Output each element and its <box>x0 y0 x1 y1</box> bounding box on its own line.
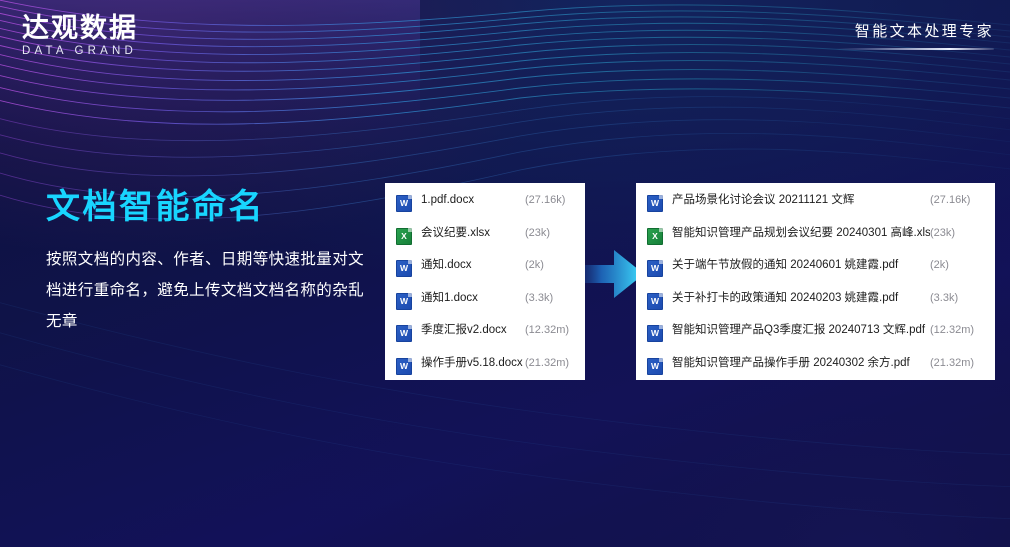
word-file-icon: W <box>647 358 663 375</box>
page-title: 文档智能命名 <box>46 188 376 227</box>
tagline-text: 智能文本处理专家 <box>836 20 994 41</box>
file-name: 智能知识管理产品规划会议纪要 20240301 高峰.xlsx <box>672 225 930 242</box>
file-size: (12.32m) <box>525 322 585 339</box>
file-size: (21.32m) <box>930 355 995 372</box>
word-file-icon: W <box>396 325 412 342</box>
file-size: (2k) <box>525 257 585 274</box>
slide-canvas: 达观数据 DATA GRAND 智能文本处理专家 文档智能命名 按照文档的内容、… <box>0 0 1010 547</box>
file-name: 1.pdf.docx <box>421 192 525 209</box>
file-row[interactable]: W智能知识管理产品Q3季度汇报 20240713 文辉.pdf(12.32m) <box>636 322 995 355</box>
file-name: 关于端午节放假的通知 20240601 姚建霞.pdf <box>672 257 930 274</box>
file-row[interactable]: X会议纪要.xlsx(23k) <box>385 225 585 258</box>
file-size: (27.16k) <box>930 192 995 209</box>
file-size: (12.32m) <box>930 322 995 339</box>
file-row[interactable]: W智能知识管理产品操作手册 20240302 余方.pdf(21.32m) <box>636 355 995 388</box>
file-row[interactable]: W1.pdf.docx(27.16k) <box>385 192 585 225</box>
word-file-icon: W <box>647 195 663 212</box>
file-name: 智能知识管理产品操作手册 20240302 余方.pdf <box>672 355 930 372</box>
file-name: 通知.docx <box>421 257 525 274</box>
copy-block: 文档智能命名 按照文档的内容、作者、日期等快速批量对文档进行重命名，避免上传文档… <box>46 188 376 337</box>
word-file-icon: W <box>396 260 412 277</box>
word-file-icon: W <box>396 293 412 310</box>
excel-file-icon: X <box>647 228 663 245</box>
file-size: (27.16k) <box>525 192 585 209</box>
tagline-underline <box>836 48 994 50</box>
file-size: (2k) <box>930 257 995 274</box>
word-file-icon: W <box>396 358 412 375</box>
excel-file-icon: X <box>396 228 412 245</box>
file-row[interactable]: W通知1.docx(3.3k) <box>385 290 585 323</box>
file-row[interactable]: W操作手册v5.18.docx(21.32m) <box>385 355 585 388</box>
file-name: 关于补打卡的政策通知 20240203 姚建霞.pdf <box>672 290 930 307</box>
file-name: 会议纪要.xlsx <box>421 225 525 242</box>
file-size: (3.3k) <box>525 290 585 307</box>
file-size: (21.32m) <box>525 355 585 372</box>
file-row[interactable]: W关于端午节放假的通知 20240601 姚建霞.pdf(2k) <box>636 257 995 290</box>
file-row[interactable]: W产品场景化讨论会议 20211121 文辉(27.16k) <box>636 192 995 225</box>
file-row[interactable]: W关于补打卡的政策通知 20240203 姚建霞.pdf(3.3k) <box>636 290 995 323</box>
file-name: 产品场景化讨论会议 20211121 文辉 <box>672 192 930 209</box>
page-description: 按照文档的内容、作者、日期等快速批量对文档进行重命名，避免上传文档文档名称的杂乱… <box>46 244 376 337</box>
file-row[interactable]: X智能知识管理产品规划会议纪要 20240301 高峰.xlsx(23k) <box>636 225 995 258</box>
file-size: (3.3k) <box>930 290 995 307</box>
logo-title-en: DATA GRAND <box>22 45 138 57</box>
file-list-before: W1.pdf.docx(27.16k)X会议纪要.xlsx(23k)W通知.do… <box>385 183 585 380</box>
word-file-icon: W <box>396 195 412 212</box>
tagline-block: 智能文本处理专家 <box>836 20 994 50</box>
arrow-right-icon <box>578 248 644 300</box>
word-file-icon: W <box>647 260 663 277</box>
file-name: 智能知识管理产品Q3季度汇报 20240713 文辉.pdf <box>672 322 930 339</box>
file-name: 季度汇报v2.docx <box>421 322 525 339</box>
logo-title-cn: 达观数据 <box>22 14 138 42</box>
file-list-after: W产品场景化讨论会议 20211121 文辉(27.16k)X智能知识管理产品规… <box>636 183 995 380</box>
file-size: (23k) <box>930 225 995 242</box>
file-row[interactable]: W通知.docx(2k) <box>385 257 585 290</box>
word-file-icon: W <box>647 293 663 310</box>
file-name: 操作手册v5.18.docx <box>421 355 525 372</box>
word-file-icon: W <box>647 325 663 342</box>
file-size: (23k) <box>525 225 585 242</box>
brand-logo: 达观数据 DATA GRAND <box>22 14 138 57</box>
file-name: 通知1.docx <box>421 290 525 307</box>
file-row[interactable]: W季度汇报v2.docx(12.32m) <box>385 322 585 355</box>
